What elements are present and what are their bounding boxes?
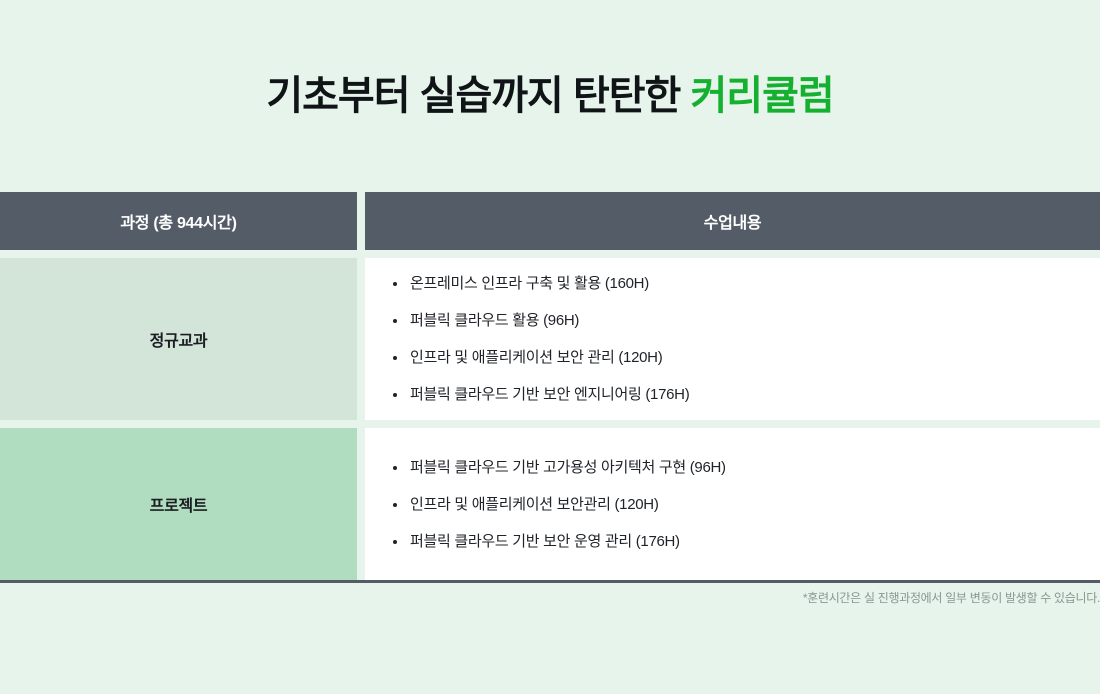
- table-header-row: 과정 (총 944시간) 수업내용: [0, 192, 1100, 250]
- list-item: 퍼블릭 클라우드 기반 보안 엔지니어링 (176H): [393, 387, 1100, 402]
- table-header-content-label: 수업내용: [704, 209, 762, 233]
- list-item: 퍼블릭 클라우드 기반 고가용성 아키텍처 구현 (96H): [393, 460, 1100, 475]
- bullet-dot-icon: [393, 319, 397, 323]
- bullet-dot-icon: [393, 393, 397, 397]
- curriculum-table: 과정 (총 944시간) 수업내용 정규교과 온프레미스 인프라 구축 및 활용…: [0, 192, 1100, 583]
- list-item-label: 퍼블릭 클라우드 기반 보안 엔지니어링 (176H): [410, 386, 689, 403]
- list-item: 퍼블릭 클라우드 기반 보안 운영 관리 (176H): [393, 534, 1100, 549]
- course-item-list: 온프레미스 인프라 구축 및 활용 (160H) 퍼블릭 클라우드 활용 (96…: [393, 276, 1100, 402]
- table-row: 프로젝트 퍼블릭 클라우드 기반 고가용성 아키텍처 구현 (96H) 인프라 …: [0, 428, 1100, 580]
- list-item-label: 온프레미스 인프라 구축 및 활용 (160H): [410, 275, 649, 292]
- row-label-project: 프로젝트: [150, 492, 208, 516]
- list-item-label: 퍼블릭 클라우드 기반 고가용성 아키텍처 구현 (96H): [410, 459, 726, 476]
- list-item: 온프레미스 인프라 구축 및 활용 (160H): [393, 276, 1100, 291]
- table-row: 정규교과 온프레미스 인프라 구축 및 활용 (160H) 퍼블릭 클라우드 활…: [0, 258, 1100, 420]
- list-item-label: 인프라 및 애플리케이션 보안관리 (120H): [410, 496, 659, 513]
- bullet-dot-icon: [393, 356, 397, 360]
- curriculum-heading: 기초부터 실습까지 탄탄한 커리큘럼: [266, 76, 833, 116]
- row-content-cell-regular-course: 온프레미스 인프라 구축 및 활용 (160H) 퍼블릭 클라우드 활용 (96…: [365, 258, 1100, 420]
- row-content-cell-project: 퍼블릭 클라우드 기반 고가용성 아키텍처 구현 (96H) 인프라 및 애플리…: [365, 428, 1100, 580]
- heading-text-plain: 기초부터 실습까지 탄탄한: [266, 74, 690, 118]
- list-item: 인프라 및 애플리케이션 보안 관리 (120H): [393, 350, 1100, 365]
- table-header-cell-course: 과정 (총 944시간): [0, 192, 357, 250]
- footnote: *훈련시간은 실 진행과정에서 일부 변동이 발생할 수 있습니다.: [0, 589, 1100, 606]
- project-item-list: 퍼블릭 클라우드 기반 고가용성 아키텍처 구현 (96H) 인프라 및 애플리…: [393, 460, 1100, 549]
- bullet-dot-icon: [393, 466, 397, 470]
- bullet-dot-icon: [393, 540, 397, 544]
- page-title: 기초부터 실습까지 탄탄한 커리큘럼: [0, 0, 1100, 192]
- bullet-dot-icon: [393, 503, 397, 507]
- bullet-dot-icon: [393, 282, 397, 286]
- table-header-cell-content: 수업내용: [365, 192, 1100, 250]
- list-item-label: 퍼블릭 클라우드 기반 보안 운영 관리 (176H): [410, 533, 680, 550]
- heading-text-accent: 커리큘럼: [690, 74, 833, 118]
- list-item-label: 퍼블릭 클라우드 활용 (96H): [410, 312, 579, 329]
- list-item-label: 인프라 및 애플리케이션 보안 관리 (120H): [410, 349, 662, 366]
- table-header-course-label: 과정 (총 944시간): [120, 209, 236, 233]
- row-label-cell-project: 프로젝트: [0, 428, 357, 580]
- row-label-cell-regular-course: 정규교과: [0, 258, 357, 420]
- table-bottom-divider: [0, 580, 1100, 583]
- list-item: 인프라 및 애플리케이션 보안관리 (120H): [393, 497, 1100, 512]
- row-label-regular-course: 정규교과: [150, 327, 208, 351]
- list-item: 퍼블릭 클라우드 활용 (96H): [393, 313, 1100, 328]
